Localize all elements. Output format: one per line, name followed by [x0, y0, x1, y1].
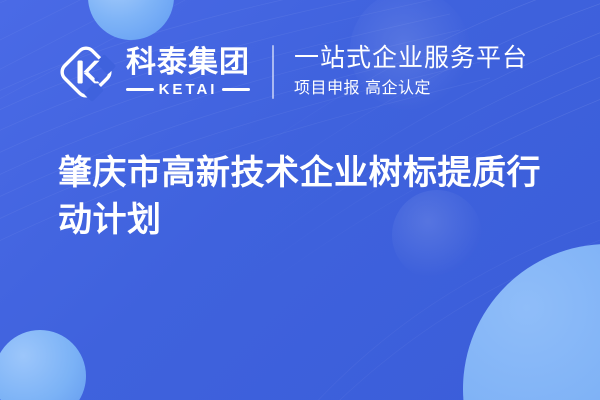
- logo-company-name-cn: 科泰集团: [126, 48, 250, 78]
- logo-wordmark: 科泰集团 KETAI: [126, 48, 250, 97]
- slogan-sub: 项目申报 高企认定: [294, 79, 528, 100]
- ketai-diamond-k-logo-icon: [56, 42, 116, 102]
- logo-rule-left: [126, 88, 154, 91]
- orb-top: [88, 0, 174, 40]
- header-slogan: 一站式企业服务平台 项目申报 高企认定: [294, 44, 528, 99]
- banner-header: 科泰集团 KETAI 一站式企业服务平台 项目申报 高企认定: [0, 36, 600, 108]
- orb-bottom-right: [463, 244, 600, 400]
- promo-banner: 科泰集团 KETAI 一站式企业服务平台 项目申报 高企认定 肇庆市高新技术企业…: [0, 0, 600, 400]
- logo-rule-right: [222, 88, 250, 91]
- logo-company-name-latin: KETAI: [159, 82, 218, 97]
- orb-bottom-left: [0, 330, 86, 400]
- page-title: 肇庆市高新技术企业树标提质行动计划: [58, 150, 558, 244]
- header-divider: [272, 45, 274, 99]
- logo-latin-row: KETAI: [126, 82, 250, 97]
- slogan-main: 一站式企业服务平台: [294, 44, 528, 74]
